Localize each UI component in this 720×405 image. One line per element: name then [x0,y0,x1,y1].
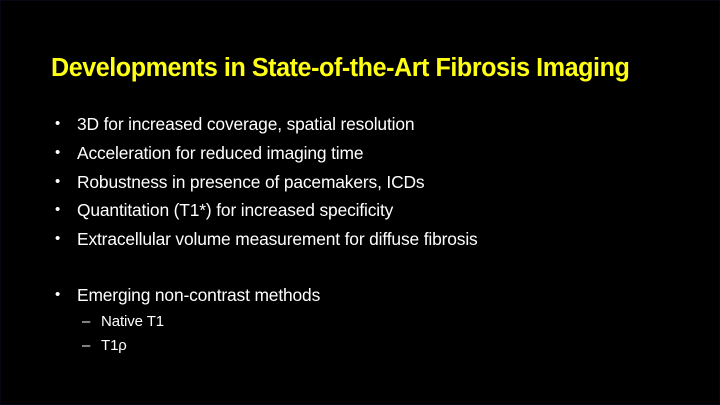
bullet-marker-icon: • [51,168,77,197]
bullet-marker-icon: • [51,110,77,139]
bullet-item: • Quantitation (T1*) for increased speci… [51,196,691,225]
slide-title: Developments in State-of-the-Art Fibrosi… [51,53,662,83]
dash-marker-icon: – [77,310,101,335]
slide-body: • 3D for increased coverage, spatial res… [51,110,691,359]
bullet-text: Quantitation (T1*) for increased specifi… [77,196,393,225]
bullet-item: • Robustness in presence of pacemakers, … [51,168,691,197]
bullet-text: Extracellular volume measurement for dif… [77,225,478,254]
sub-bullet-item: – Native T1 [51,310,691,335]
bullet-marker-icon: • [51,196,77,225]
bullet-item: • Acceleration for reduced imaging time [51,139,691,168]
bullet-marker-icon: • [51,281,77,310]
bullet-spacer [51,254,691,281]
bullet-item: • 3D for increased coverage, spatial res… [51,110,691,139]
bullet-marker-icon: • [51,225,77,254]
sub-bullet-text: Native T1 [101,310,164,335]
bullet-item: • Extracellular volume measurement for d… [51,225,691,254]
presentation-slide: Developments in State-of-the-Art Fibrosi… [0,0,720,405]
bullet-item: • Emerging non-contrast methods [51,281,691,310]
sub-bullet-text: T1ρ [101,334,127,359]
bullet-text: Emerging non-contrast methods [77,281,320,310]
bullet-marker-icon: • [51,139,77,168]
dash-marker-icon: – [77,334,101,359]
bullet-text: 3D for increased coverage, spatial resol… [77,110,414,139]
sub-bullet-item: – T1ρ [51,334,691,359]
bullet-text: Acceleration for reduced imaging time [77,139,363,168]
bullet-text: Robustness in presence of pacemakers, IC… [77,168,424,197]
